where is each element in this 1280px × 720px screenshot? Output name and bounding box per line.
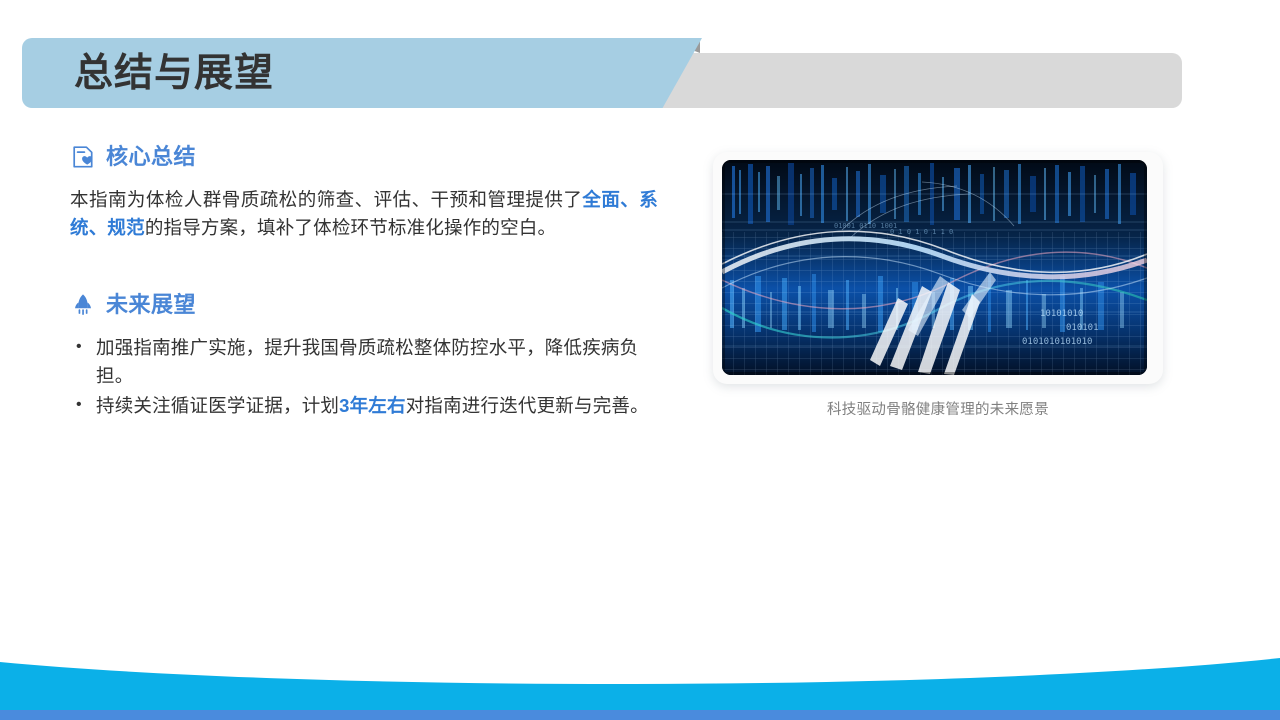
section-header-future-outlook: 未来展望 bbox=[70, 288, 658, 322]
footer-wave-decoration bbox=[0, 640, 1280, 720]
list-item: 持续关注循证医学证据，计划3年左右对指南进行迭代更新与完善。 bbox=[70, 392, 658, 420]
bullet-2-part1: 持续关注循证医学证据，计划 bbox=[96, 395, 339, 416]
technology-data-illustration: 10101010 0101010101010 010101 01001 0110… bbox=[722, 160, 1147, 375]
core-summary-paragraph: 本指南为体检人群骨质疏松的筛查、评估、干预和管理提供了全面、系统、规范的指导方案… bbox=[70, 186, 658, 242]
page-title: 总结与展望 bbox=[74, 52, 274, 96]
svg-text:10101010: 10101010 bbox=[1040, 309, 1083, 319]
svg-text:01001 0110 1001: 01001 0110 1001 bbox=[834, 222, 897, 230]
core-summary-text-part1: 本指南为体检人群骨质疏松的筛查、评估、干预和管理提供了 bbox=[70, 189, 582, 210]
bullet-2-highlight: 3年左右 bbox=[339, 395, 406, 416]
document-heart-icon bbox=[70, 144, 96, 170]
section-title-core-summary: 核心总结 bbox=[106, 144, 196, 170]
header-gray-banner bbox=[640, 53, 1182, 108]
figure-caption: 科技驱动骨骼健康管理的未来愿景 bbox=[713, 398, 1163, 419]
svg-text:010101: 010101 bbox=[1066, 323, 1099, 333]
content-left-column: 核心总结 本指南为体检人群骨质疏松的筛查、评估、干预和管理提供了全面、系统、规范… bbox=[70, 140, 658, 422]
section-spacer bbox=[70, 242, 658, 288]
svg-text:0101010101010: 0101010101010 bbox=[1022, 337, 1092, 347]
rocket-icon bbox=[70, 292, 96, 318]
svg-text:0 1 0 1 0 1 1 0: 0 1 0 1 0 1 1 0 bbox=[890, 228, 953, 236]
slide-root: 总结与展望 核心总结 本指南为体检人群骨质疏松的筛查、评估、干预和管理提供了全面… bbox=[0, 0, 1280, 720]
figure-card: 10101010 0101010101010 010101 01001 0110… bbox=[713, 152, 1163, 384]
list-item: 加强指南推广实施，提升我国骨质疏松整体防控水平，降低疾病负担。 bbox=[70, 334, 658, 390]
future-outlook-list: 加强指南推广实施，提升我国骨质疏松整体防控水平，降低疾病负担。 持续关注循证医学… bbox=[70, 334, 658, 420]
figure-image-frame: 10101010 0101010101010 010101 01001 0110… bbox=[722, 160, 1147, 375]
bullet-1-part1: 加强指南推广实施，提升我国骨质疏松整体防控水平，降低疾病负担。 bbox=[96, 337, 638, 386]
section-title-future-outlook: 未来展望 bbox=[106, 292, 196, 318]
core-summary-text-part2: 的指导方案，填补了体检环节标准化操作的空白。 bbox=[145, 217, 556, 238]
slide-header: 总结与展望 bbox=[0, 0, 1280, 130]
section-header-core-summary: 核心总结 bbox=[70, 140, 658, 174]
bullet-2-part2: 对指南进行迭代更新与完善。 bbox=[406, 395, 649, 416]
